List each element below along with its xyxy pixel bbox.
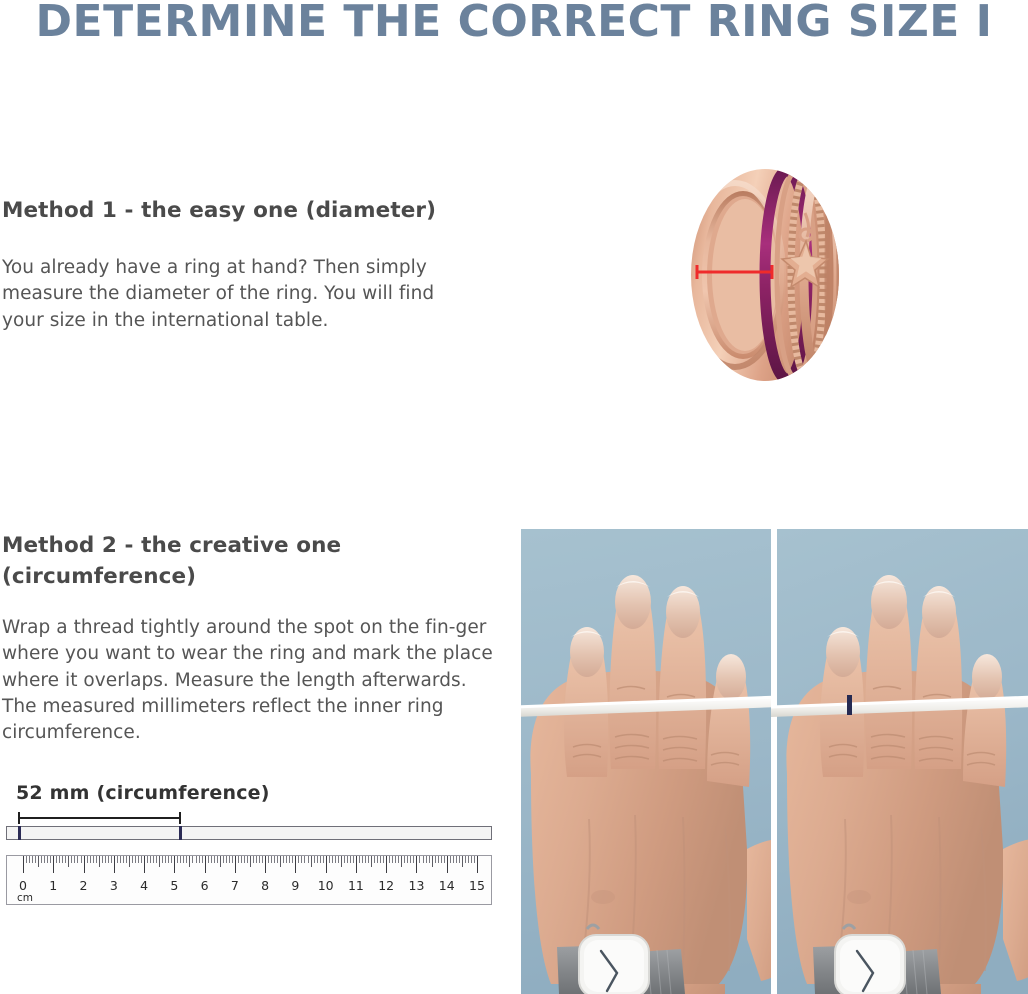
ruler-number: 4: [140, 878, 148, 893]
ruler-number: 2: [80, 878, 88, 893]
ruler-tick-mm: [280, 856, 281, 867]
ruler-tick-mm: [298, 856, 299, 863]
ruler-tick-cm: [84, 856, 85, 873]
ruler-tick-mm: [47, 856, 48, 863]
ruler-tick-mm: [359, 856, 360, 863]
ruler-tick-mm: [350, 856, 351, 863]
ruler-tick-mm: [435, 856, 436, 863]
ruler-tick-mm: [120, 856, 121, 863]
ruler-number: 3: [110, 878, 118, 893]
ruler-tick-mm: [38, 856, 39, 867]
ruler-tick-cm: [205, 856, 206, 873]
hand-panel-right: [771, 529, 1028, 994]
ruler-tick-mm: [320, 856, 321, 863]
ruler-tick-mm: [81, 856, 82, 863]
ruler-tick-mm: [223, 856, 224, 863]
ruler-tick-mm: [44, 856, 45, 863]
ruler-tick-mm: [392, 856, 393, 863]
ruler-number: 15: [469, 878, 485, 893]
ruler-tick-cm: [356, 856, 357, 873]
ruler-tick-cm: [144, 856, 145, 873]
ruler-tick-mm: [99, 856, 100, 867]
method-1-body: You already have a ring at hand? Then si…: [2, 255, 474, 334]
ruler-tick-cm: [265, 856, 266, 873]
thread-strip: [6, 826, 492, 840]
ruler-tick-mm: [217, 856, 218, 863]
ruler-tick-mm: [135, 856, 136, 863]
ruler-tick-mm: [423, 856, 424, 863]
ruler-tick-mm: [32, 856, 33, 863]
ruler-tick-cm: [447, 856, 448, 873]
ruler-tick-mm: [383, 856, 384, 863]
ruler-number: 6: [201, 878, 209, 893]
ruler-unit-label: cm: [17, 892, 33, 904]
method-2-heading: Method 2 - the creative one (circumferen…: [2, 531, 382, 593]
ruler-tick-mm: [311, 856, 312, 867]
ruler-tick-mm: [226, 856, 227, 863]
ruler-tick-mm: [253, 856, 254, 863]
ruler-tick-mm: [29, 856, 30, 863]
thread-overlap-mark: [847, 695, 852, 715]
ruler-tick-mm: [196, 856, 197, 863]
ruler-tick-mm: [177, 856, 178, 863]
ruler-tick-mm: [159, 856, 160, 867]
ruler-tick-mm: [220, 856, 221, 867]
ruler-tick-mm: [289, 856, 290, 863]
ruler-tick-mm: [398, 856, 399, 863]
ruler-tick-mm: [474, 856, 475, 863]
ruler-tick-mm: [468, 856, 469, 863]
ruler-tick-mm: [180, 856, 181, 863]
ruler-tick-mm: [35, 856, 36, 863]
ruler-tick-mm: [105, 856, 106, 863]
ruler-tick-cm: [114, 856, 115, 873]
ring-photo: [665, 155, 865, 395]
ruler-tick-mm: [202, 856, 203, 863]
ruler-tick-mm: [410, 856, 411, 863]
bracket-cap-right: [179, 812, 181, 824]
ruler-tick-mm: [283, 856, 284, 863]
ruler-number: 5: [170, 878, 178, 893]
ruler-tick-mm: [102, 856, 103, 863]
ruler-tick-mm: [129, 856, 130, 867]
ruler-tick-mm: [344, 856, 345, 863]
ruler-number: 14: [439, 878, 455, 893]
ruler-tick-mm: [199, 856, 200, 863]
ruler-tick-mm: [59, 856, 60, 863]
ruler-number: 11: [348, 878, 364, 893]
method-2-body: Wrap a thread tightly around the spot on…: [2, 615, 494, 746]
ruler-tick-mm: [153, 856, 154, 863]
ruler-tick-mm: [247, 856, 248, 863]
ruler-tick-mm: [268, 856, 269, 863]
ruler-tick-mm: [123, 856, 124, 863]
ruler-tick-mm: [271, 856, 272, 863]
ruler-number: 7: [231, 878, 239, 893]
ruler-tick-cm: [295, 856, 296, 873]
ruler-tick-mm: [111, 856, 112, 863]
ruler-tick-mm: [347, 856, 348, 863]
ruler-tick-mm: [241, 856, 242, 863]
ruler-tick-mm: [444, 856, 445, 863]
circumference-measurement-label: 52 mm (circumference): [16, 782, 270, 804]
ruler-tick-mm: [368, 856, 369, 863]
ruler-tick-mm: [244, 856, 245, 863]
page-title: DETERMINE THE CORRECT RING SIZE I: [0, 0, 1028, 47]
ruler-tick-mm: [229, 856, 230, 863]
ruler-tick-mm: [165, 856, 166, 863]
ruler-tick-mm: [141, 856, 142, 863]
ruler-tick-mm: [138, 856, 139, 863]
ruler-number: 1: [49, 878, 57, 893]
ruler-number: 13: [409, 878, 425, 893]
ruler-tick-mm: [277, 856, 278, 863]
ruler-tick-mm: [56, 856, 57, 863]
ruler-tick-mm: [338, 856, 339, 863]
ruler-tick-cm: [174, 856, 175, 873]
ruler-tick-mm: [211, 856, 212, 863]
ruler-tick-mm: [256, 856, 257, 863]
ruler-tick-cm: [386, 856, 387, 873]
ruler-tick-cm: [23, 856, 24, 873]
ruler-tick-mm: [419, 856, 420, 863]
ruler-tick-mm: [450, 856, 451, 863]
method-1-heading: Method 1 - the easy one (diameter): [2, 196, 502, 227]
ruler-tick-mm: [329, 856, 330, 863]
ruler-tick-mm: [304, 856, 305, 863]
thread-mark-start: [18, 826, 21, 840]
ruler-tick-cm: [477, 856, 478, 873]
ruler-tick-mm: [389, 856, 390, 863]
ruler-tick-mm: [68, 856, 69, 867]
hands-photo: [521, 529, 1028, 994]
ruler-tick-mm: [426, 856, 427, 863]
ruler-tick-mm: [341, 856, 342, 867]
ruler-tick-mm: [374, 856, 375, 863]
ruler-tick-mm: [259, 856, 260, 863]
ruler-tick-mm: [380, 856, 381, 863]
ruler-tick-mm: [87, 856, 88, 863]
ruler-tick-mm: [214, 856, 215, 863]
ruler-tick-mm: [432, 856, 433, 867]
ruler-tick-mm: [362, 856, 363, 863]
ruler-tick-mm: [395, 856, 396, 863]
thread-mark-end: [179, 826, 182, 840]
ruler-tick-mm: [286, 856, 287, 863]
ruler-tick-mm: [456, 856, 457, 863]
ruler-tick-cm: [326, 856, 327, 873]
ruler-tick-mm: [274, 856, 275, 863]
ruler-tick-mm: [413, 856, 414, 863]
ruler-tick-mm: [353, 856, 354, 863]
ruler-number: 9: [291, 878, 299, 893]
ruler-number: 0: [19, 878, 27, 893]
ruler-tick-mm: [208, 856, 209, 863]
ruler-tick-mm: [108, 856, 109, 863]
ruler-tick-mm: [407, 856, 408, 863]
ruler-tick-mm: [62, 856, 63, 863]
ruler-tick-mm: [404, 856, 405, 863]
ruler-tick-mm: [371, 856, 372, 867]
ruler-tick-mm: [126, 856, 127, 863]
ruler-tick-mm: [438, 856, 439, 863]
ruler-tick-mm: [71, 856, 72, 863]
ruler-tick-mm: [150, 856, 151, 863]
ruler-tick-mm: [232, 856, 233, 863]
ruler-tick-mm: [132, 856, 133, 863]
ruler-tick-mm: [365, 856, 366, 863]
ruler-tick-mm: [189, 856, 190, 867]
ruler-number: 8: [261, 878, 269, 893]
ruler-tick-mm: [74, 856, 75, 863]
ruler-tick-mm: [314, 856, 315, 863]
ruler-tick-mm: [162, 856, 163, 863]
ruler-tick-cm: [416, 856, 417, 873]
ruler-tick-mm: [96, 856, 97, 863]
ruler-tick-mm: [471, 856, 472, 863]
measurement-bracket: [18, 812, 181, 824]
ruler-tick-mm: [335, 856, 336, 863]
ruler-number: 10: [318, 878, 334, 893]
ruler-tick-mm: [462, 856, 463, 867]
ruler-tick-cm: [53, 856, 54, 873]
ruler-tick-mm: [465, 856, 466, 863]
ruler-number: 12: [378, 878, 394, 893]
ruler-tick-mm: [292, 856, 293, 863]
ruler-tick-mm: [65, 856, 66, 863]
ruler-tick-mm: [171, 856, 172, 863]
ruler-tick-mm: [90, 856, 91, 863]
ruler: 0123456789101112131415 cm: [6, 855, 492, 905]
ruler-tick-mm: [168, 856, 169, 863]
ruler-tick-mm: [117, 856, 118, 863]
ruler-tick-mm: [317, 856, 318, 863]
bracket-line: [18, 817, 181, 819]
ruler-tick-mm: [401, 856, 402, 867]
ruler-tick-mm: [323, 856, 324, 863]
ruler-tick-mm: [262, 856, 263, 863]
ruler-tick-mm: [50, 856, 51, 863]
ruler-tick-mm: [377, 856, 378, 863]
panel-divider: [771, 529, 777, 994]
ruler-tick-mm: [238, 856, 239, 863]
ruler-tick-mm: [250, 856, 251, 867]
ruler-tick-mm: [301, 856, 302, 863]
ruler-tick-mm: [41, 856, 42, 863]
ruler-tick-mm: [147, 856, 148, 863]
ruler-tick-mm: [77, 856, 78, 863]
ruler-tick-mm: [429, 856, 430, 863]
ruler-tick-mm: [441, 856, 442, 863]
ruler-tick-mm: [93, 856, 94, 863]
ruler-tick-cm: [235, 856, 236, 873]
ruler-tick-mm: [308, 856, 309, 863]
ruler-tick-mm: [156, 856, 157, 863]
ruler-tick-mm: [26, 856, 27, 863]
ruler-tick-mm: [192, 856, 193, 863]
ruler-tick-mm: [459, 856, 460, 863]
ruler-tick-mm: [183, 856, 184, 863]
ruler-tick-mm: [332, 856, 333, 863]
ruler-tick-mm: [186, 856, 187, 863]
ruler-tick-mm: [453, 856, 454, 863]
